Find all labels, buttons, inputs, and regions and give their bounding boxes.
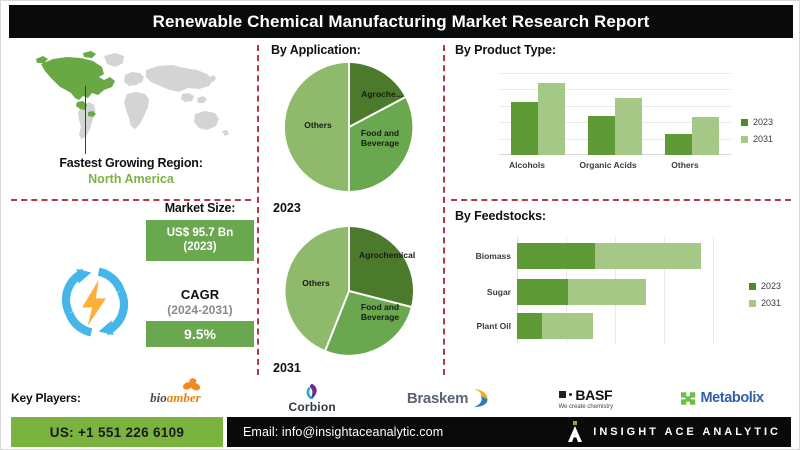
basf-dot-icon: [569, 393, 572, 396]
legend-item-2023: 2023: [741, 117, 773, 127]
key-players-label: Key Players:: [11, 391, 107, 405]
pie-chart-2023: Agroche... Food and Beverage Others 2023: [285, 63, 439, 215]
feedstocks-legend: 2023 2031: [749, 281, 781, 315]
market-size-value-badge: US$ 95.7 Bn (2023): [146, 220, 254, 261]
email-text[interactable]: Email: info@insightaceanalytic.com: [243, 425, 443, 439]
map-leader-line: [85, 86, 86, 154]
page-title: Renewable Chemical Manufacturing Market …: [153, 12, 650, 32]
hbar-row-plant-oil: [517, 313, 742, 339]
logo-basf: BASF We create chemistry: [517, 381, 654, 415]
feedstocks-plot-area: [517, 237, 742, 343]
braskem-text: Braskem: [407, 390, 468, 407]
corbion-text: Corbion: [289, 400, 336, 414]
legend-label-2023: 2023: [753, 117, 773, 127]
corbion-mark-icon: [304, 383, 320, 400]
right-column: By Product Type: Alcohols: [449, 43, 793, 373]
feedstocks-bar-chart: Biomass Sugar Plant Oil 2023 2031: [449, 233, 793, 361]
legend-swatch-2023-icon: [749, 283, 756, 290]
product-type-legend: 2023 2031: [741, 117, 773, 151]
by-product-type-title: By Product Type:: [455, 43, 793, 57]
legend-item-2031: 2031: [741, 134, 773, 144]
email-bar: Email: info@insightaceanalytic.com INSIG…: [227, 417, 791, 447]
cagr-period: (2024-2031): [146, 303, 254, 317]
divider-vertical-left: [257, 45, 259, 375]
cagr-label: CAGR: [146, 287, 254, 302]
product-type-category-organic-acids: Organic Acids: [569, 160, 647, 170]
bioamber-mark-icon: [181, 378, 203, 392]
market-size-group: Market Size: US$ 95.7 Bn (2023): [146, 201, 254, 261]
market-size-block: Market Size: US$ 95.7 Bn (2023) CAGR (20…: [11, 201, 256, 371]
divider-vertical-right: [443, 45, 445, 375]
header-bar: Renewable Chemical Manufacturing Market …: [9, 5, 793, 38]
metabolix-mark-icon: [681, 392, 697, 405]
hbar-plant-oil-2023: [517, 313, 542, 339]
basf-text: BASF: [575, 387, 612, 403]
phone-badge[interactable]: US: +1 551 226 6109: [11, 417, 223, 447]
legend-item-2031-feedstocks: 2031: [749, 298, 781, 308]
bar-organic-acids-2023: [588, 116, 615, 155]
basf-square-icon: [559, 391, 566, 398]
recycle-energy-icon: [49, 256, 141, 348]
bar-organic-acids-2031: [615, 98, 642, 155]
by-application-title: By Application:: [271, 43, 439, 57]
product-type-bar-chart: Alcohols Organic Acids Others 2023 2031: [449, 65, 793, 183]
pie-2023-year: 2023: [273, 201, 439, 215]
fastest-growing-region-value: North America: [21, 172, 241, 186]
legend-label-2031: 2031: [753, 134, 773, 144]
by-application-section: By Application: Agroche...: [263, 43, 439, 373]
legend-label-2023-feedstocks: 2023: [761, 281, 781, 291]
market-size-year: (2023): [150, 240, 250, 254]
feedstocks-category-plant-oil: Plant Oil: [449, 313, 511, 339]
fastest-growing-region-label: Fastest Growing Region:: [21, 156, 241, 170]
logo-metabolix: Metabolix: [654, 381, 791, 415]
key-players-row: Key Players: bioamber Corbion: [11, 381, 791, 415]
legend-swatch-2023-icon: [741, 119, 748, 126]
product-type-plot-area: [499, 73, 731, 155]
product-type-category-others: Others: [651, 160, 719, 170]
bar-others-2031: [692, 117, 719, 155]
insight-ace-logo-icon: [567, 421, 583, 443]
bar-alcohols-2023: [511, 102, 538, 155]
region-label-group: Fastest Growing Region: North America: [21, 156, 241, 186]
feedstocks-category-sugar: Sugar: [449, 279, 511, 305]
logo-corbion: Corbion: [244, 381, 381, 415]
hbar-row-biomass: [517, 243, 742, 269]
feedstocks-category-biomass: Biomass: [449, 243, 511, 269]
legend-item-2023-feedstocks: 2023: [749, 281, 781, 291]
legend-swatch-2031-icon: [749, 300, 756, 307]
logo-braskem: Braskem: [381, 381, 518, 415]
fastest-growing-region-block: Fastest Growing Region: North America: [11, 46, 251, 196]
brand-text: INSIGHT ACE ANALYTIC: [593, 426, 781, 438]
pie-chart-2031: Agrochemical Food and Beverage Others 20…: [285, 227, 439, 375]
by-feedstocks-title: By Feedstocks:: [455, 209, 546, 223]
hbar-row-sugar: [517, 279, 742, 305]
product-type-category-alcohols: Alcohols: [493, 160, 561, 170]
braskem-mark-icon: [471, 387, 491, 409]
bioamber-text-part2: amber: [167, 390, 201, 405]
brand-lockup: INSIGHT ACE ANALYTIC: [567, 417, 781, 447]
metabolix-text: Metabolix: [700, 390, 763, 406]
hbar-biomass-2023: [517, 243, 595, 269]
bar-others-2023: [665, 134, 692, 155]
market-size-value: US$ 95.7 Bn: [150, 226, 250, 240]
hbar-sugar-2031: [568, 279, 646, 305]
pie-2031-year: 2031: [273, 361, 439, 375]
market-size-label: Market Size:: [146, 201, 254, 215]
cagr-group: CAGR (2024-2031) 9.5%: [146, 287, 254, 347]
world-map-icon: [29, 46, 244, 151]
hbar-biomass-2031: [595, 243, 701, 269]
hbar-sugar-2023: [517, 279, 568, 305]
bioamber-text-part1: bio: [150, 390, 167, 405]
cagr-value-badge: 9.5%: [146, 321, 254, 347]
contact-bar: US: +1 551 226 6109 Email: info@insighta…: [11, 417, 791, 447]
basf-tagline: We create chemistry: [559, 404, 614, 410]
legend-label-2031-feedstocks: 2031: [761, 298, 781, 308]
logo-bioamber: bioamber: [107, 381, 244, 415]
legend-swatch-2031-icon: [741, 136, 748, 143]
infographic-page: Renewable Chemical Manufacturing Market …: [0, 0, 800, 450]
hbar-plant-oil-2031: [542, 313, 593, 339]
bar-alcohols-2031: [538, 83, 565, 155]
